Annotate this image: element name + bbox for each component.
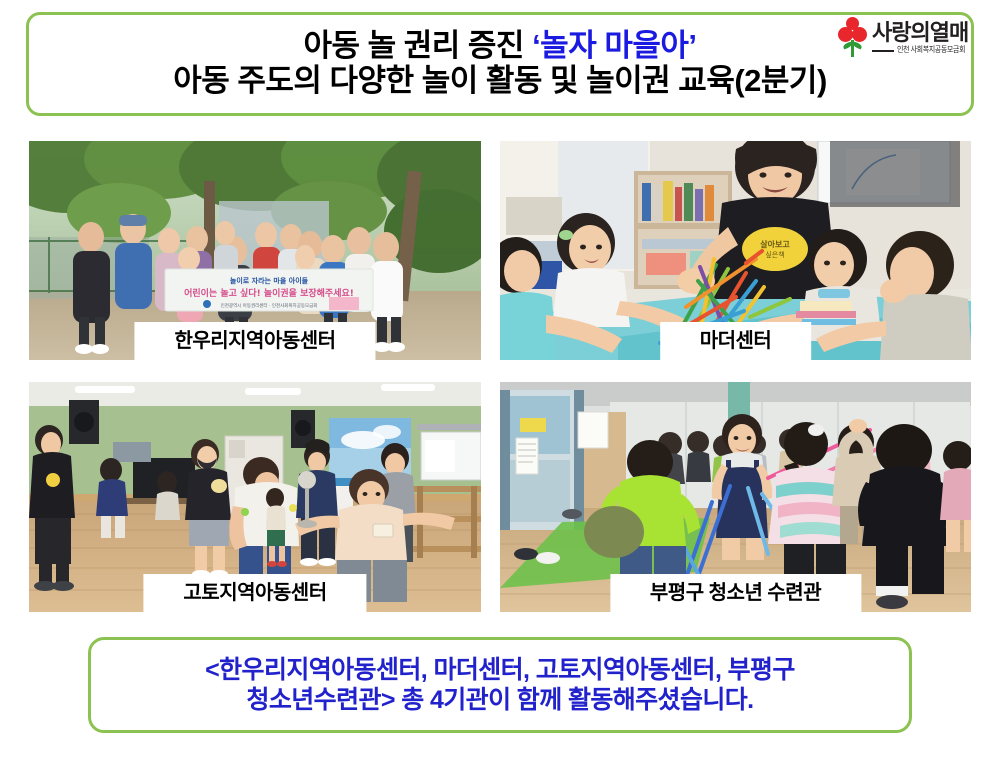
logo-text-block: 사랑의열매 인천 사회복지공동모금회 xyxy=(872,22,968,54)
title-banner: 아동 놀 권리 증진 ‘놀자 마을아’ 아동 주도의 다양한 놀이 활동 및 놀… xyxy=(26,12,974,116)
photo-caption-goto: 고토지역아동센터 xyxy=(143,574,366,612)
page-title-accent: ‘놀자 마을아’ xyxy=(532,28,696,63)
photo-cell-mother: 살아보고 싶은책 xyxy=(500,141,971,360)
photo-caption-bupyeong: 부평구 청소년 수련관 xyxy=(610,574,861,612)
logo-subtitle: 인천 사회복지공동모금회 xyxy=(897,46,965,54)
page-title-line-1: 아동 놀 권리 증진 ‘놀자 마을아’ xyxy=(303,29,696,64)
logo-name: 사랑의열매 xyxy=(872,22,968,44)
page-title-plain: 아동 놀 권리 증진 xyxy=(303,28,532,63)
summary-line-2: 청소년수련관> 총 4기관이 함께 활동해주셨습니다. xyxy=(246,685,753,716)
community-chest-logo: 사랑의열매 인천 사회복지공동모금회 xyxy=(838,14,986,62)
logo-rule xyxy=(872,50,894,52)
summary-line-1: <한우리지역아동센터, 마더센터, 고토지역아동센터, 부평구 xyxy=(205,655,795,686)
photo-cell-goto: 고토지역아동센터 xyxy=(29,382,481,612)
fruit-of-love-berry-icon xyxy=(838,16,868,60)
logo-subtitle-row: 인천 사회복지공동모금회 xyxy=(872,47,968,54)
photo-grid: 놀이로 자라는 마을 아이들 어린이는 놀고 싶다! 놀이권을 보장해주세요! … xyxy=(29,141,971,612)
photo-caption-mother: 마더센터 xyxy=(660,322,812,360)
photo-caption-hanuri: 한우리지역아동센터 xyxy=(134,322,375,360)
svg-text:인천광역시 아동권리센터 · 인천사회복지공동모금회: 인천광역시 아동권리센터 · 인천사회복지공동모금회 xyxy=(221,302,318,309)
svg-text:놀이로 자라는 마을 아이들: 놀이로 자라는 마을 아이들 xyxy=(230,276,309,285)
page-title-line-2: 아동 주도의 다양한 놀이 활동 및 놀이권 교육(2분기) xyxy=(173,64,827,99)
svg-text:살아보고: 살아보고 xyxy=(760,239,790,249)
photo-cell-hanuri: 놀이로 자라는 마을 아이들 어린이는 놀고 싶다! 놀이권을 보장해주세요! … xyxy=(29,141,481,360)
svg-text:어린이는 놀고 싶다! 놀이권을 보장해주세요!: 어린이는 놀고 싶다! 놀이권을 보장해주세요! xyxy=(184,287,354,299)
svg-text:싶은책: 싶은책 xyxy=(765,250,784,259)
photo-cell-bupyeong: 부평구 청소년 수련관 xyxy=(500,382,971,612)
summary-banner: <한우리지역아동센터, 마더센터, 고토지역아동센터, 부평구 청소년수련관> … xyxy=(88,637,912,733)
